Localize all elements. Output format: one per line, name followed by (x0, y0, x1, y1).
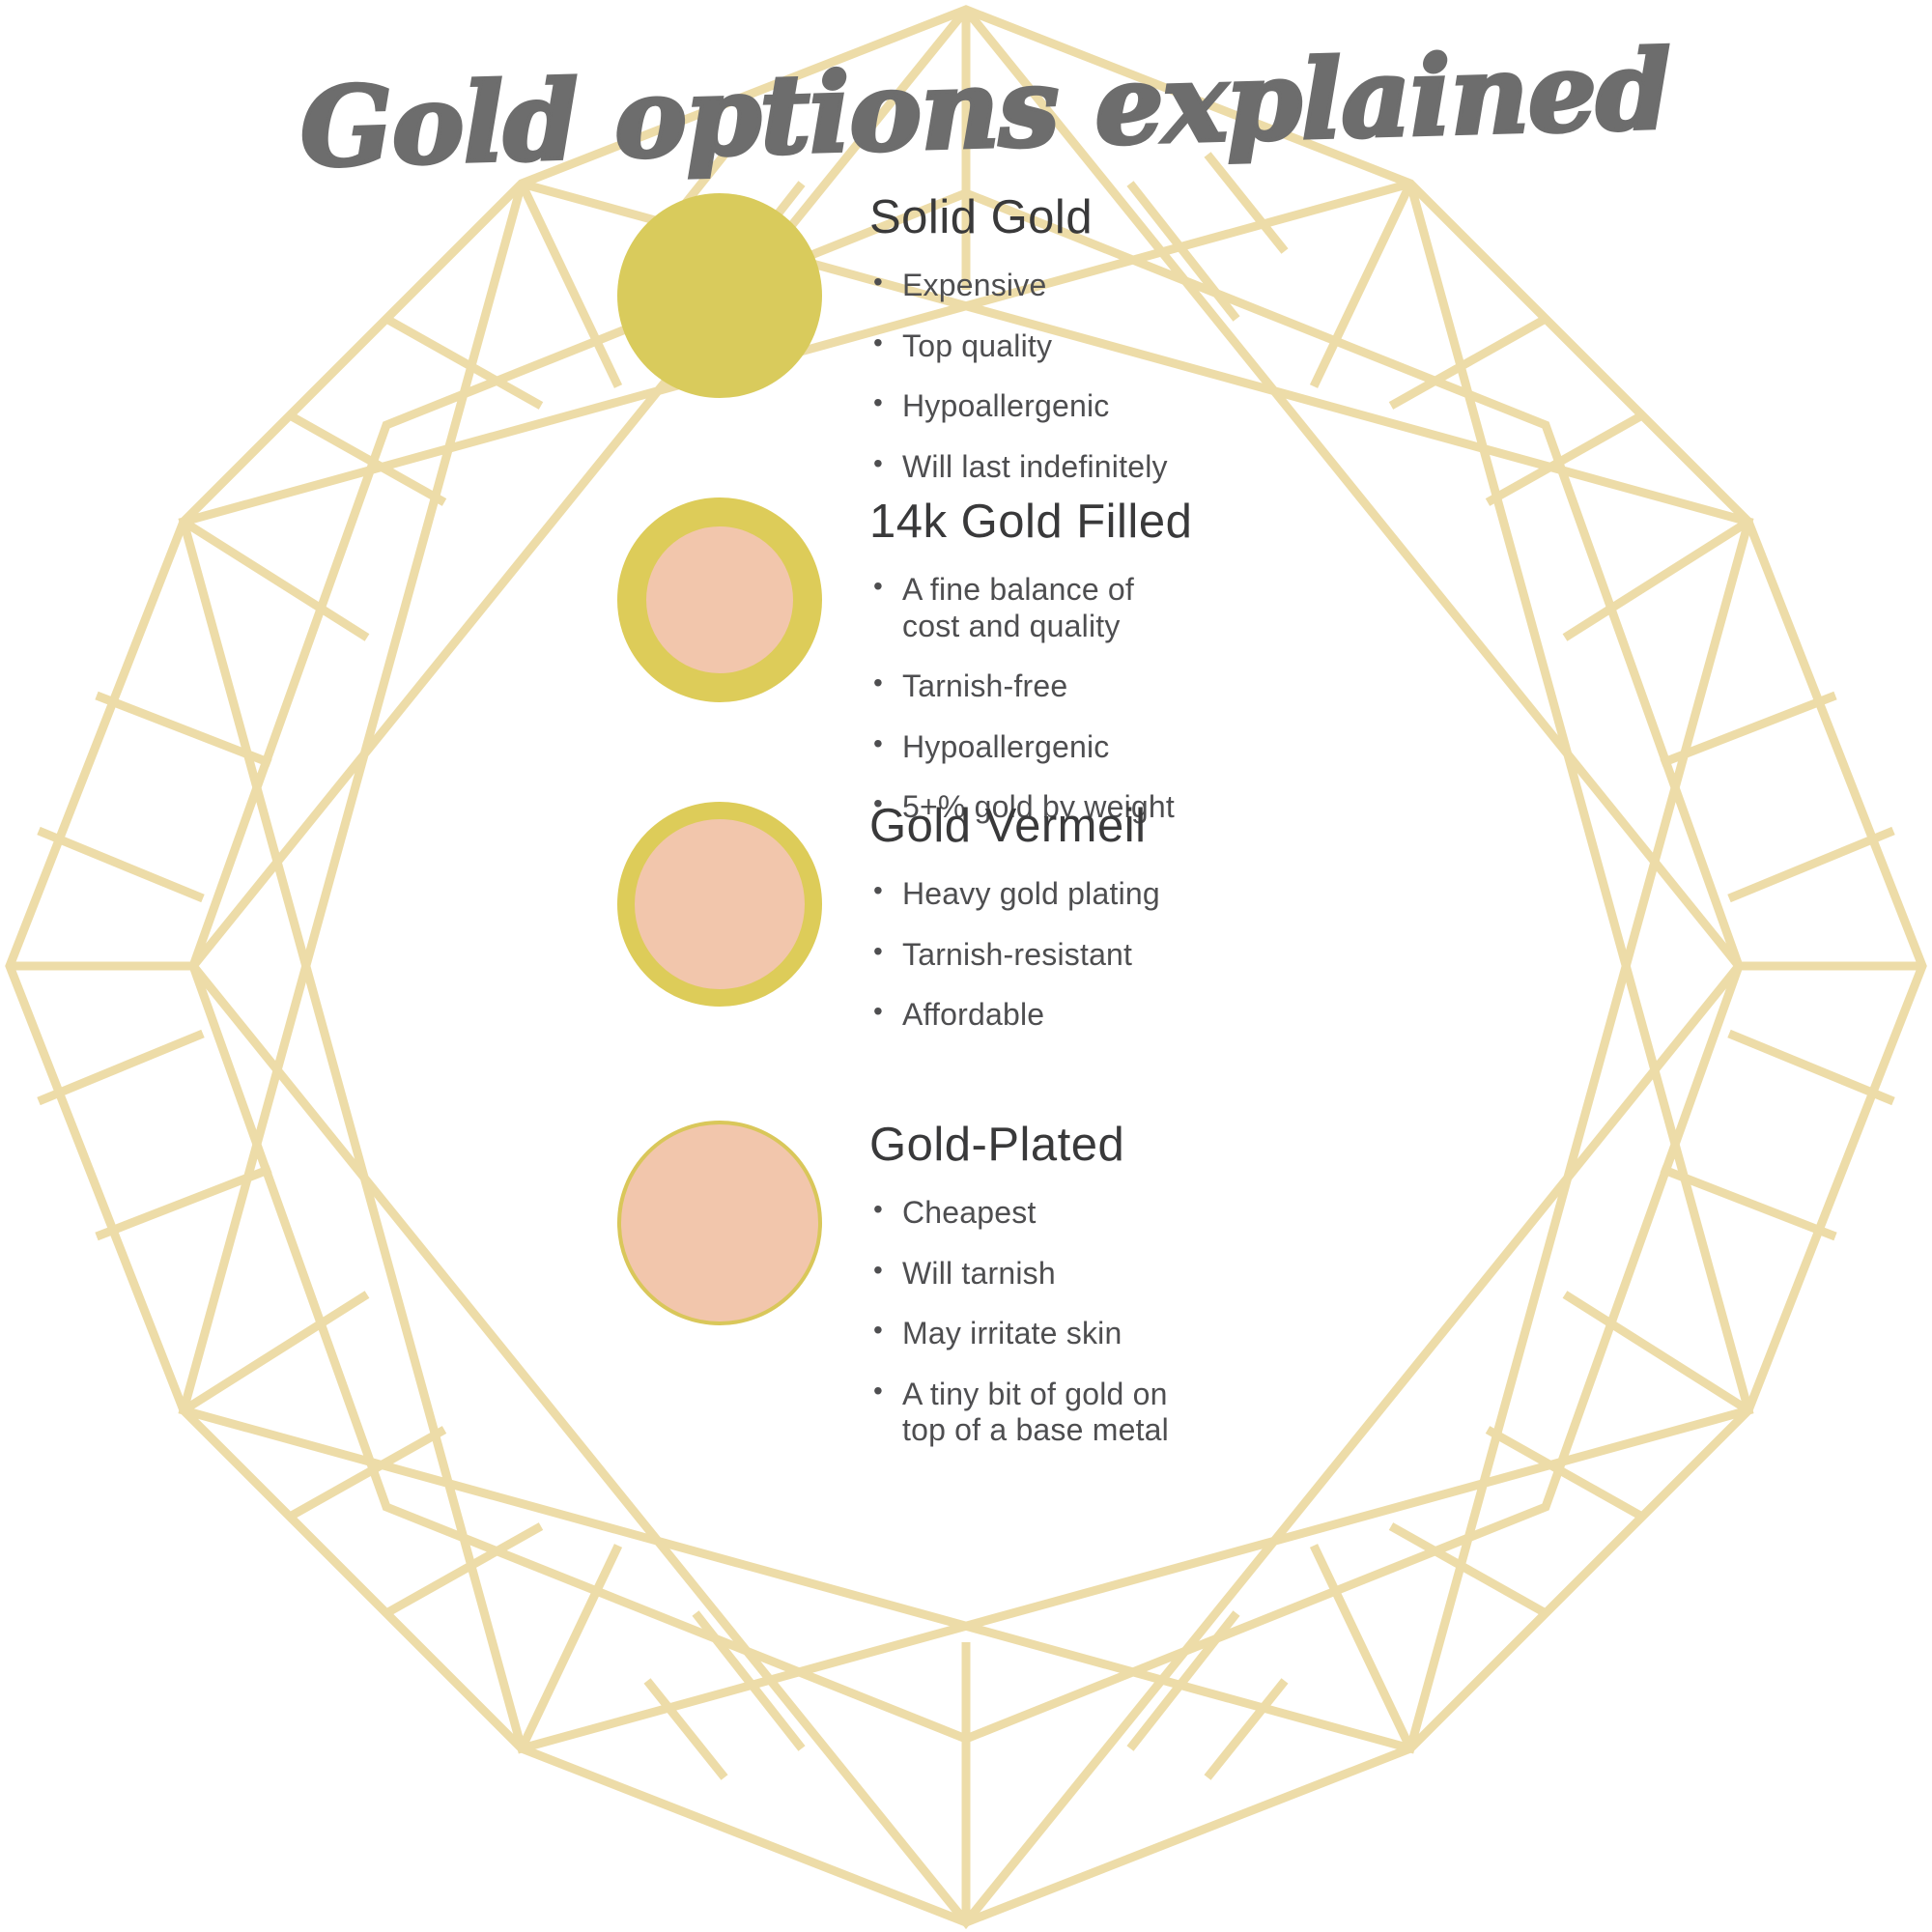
bullet-list-gold-vermeil: Heavy gold platingTarnish-resistantAffor… (869, 876, 1642, 1033)
section-14k-gold-filled: 14k Gold FilledA fine balance ofcost and… (580, 497, 1642, 850)
section-heading-gold-vermeil: Gold Vermeil (869, 802, 1642, 851)
bullet-item: Cheapest (869, 1195, 1642, 1231)
bullet-item: Will last indefinitely (869, 449, 1642, 485)
section-heading-gold-plated: Gold-Plated (869, 1121, 1642, 1170)
section-heading-14k-gold-filled: 14k Gold Filled (869, 497, 1642, 547)
bullet-item: Hypoallergenic (869, 388, 1642, 424)
text-column-gold-vermeil: Gold VermeilHeavy gold platingTarnish-re… (860, 802, 1642, 1058)
bullet-item: Hypoallergenic (869, 729, 1642, 765)
bullet-list-14k-gold-filled: A fine balance ofcost and qualityTarnish… (869, 572, 1642, 825)
section-heading-solid-gold: Solid Gold (869, 193, 1642, 242)
bullet-item: A fine balance ofcost and quality (869, 572, 1642, 644)
section-solid-gold: Solid GoldExpensiveTop qualityHypoallerg… (580, 193, 1642, 509)
swatch-wrap-gold-vermeil (580, 802, 860, 1007)
section-gold-vermeil: Gold VermeilHeavy gold platingTarnish-re… (580, 802, 1642, 1058)
bullet-item: A tiny bit of gold ontop of a base metal (869, 1377, 1642, 1449)
bullet-item: May irritate skin (869, 1316, 1642, 1351)
text-column-gold-plated: Gold-PlatedCheapestWill tarnishMay irrit… (860, 1121, 1642, 1473)
bullet-item: Tarnish-free (869, 668, 1642, 704)
text-column-14k-gold-filled: 14k Gold FilledA fine balance ofcost and… (860, 497, 1642, 850)
bullet-item: Expensive (869, 268, 1642, 303)
bullet-item: Top quality (869, 328, 1642, 364)
swatch-wrap-14k-gold-filled (580, 497, 860, 702)
bullet-item: Tarnish-resistant (869, 937, 1642, 973)
gold-sample-circle-solid-gold (617, 193, 822, 398)
gold-sample-circle-gold-vermeil (617, 802, 822, 1007)
bullet-list-gold-plated: CheapestWill tarnishMay irritate skinA t… (869, 1195, 1642, 1448)
gold-sample-circle-gold-plated (617, 1121, 822, 1325)
swatch-wrap-gold-plated (580, 1121, 860, 1325)
section-gold-plated: Gold-PlatedCheapestWill tarnishMay irrit… (580, 1121, 1642, 1473)
swatch-wrap-solid-gold (580, 193, 860, 398)
bullet-item: Heavy gold plating (869, 876, 1642, 912)
sections-container: Solid GoldExpensiveTop qualityHypoallerg… (0, 0, 1932, 1932)
text-column-solid-gold: Solid GoldExpensiveTop qualityHypoallerg… (860, 193, 1642, 509)
bullet-item: Affordable (869, 997, 1642, 1033)
infographic-canvas: Gold options explained Solid GoldExpensi… (0, 0, 1932, 1932)
bullet-item: Will tarnish (869, 1256, 1642, 1292)
bullet-list-solid-gold: ExpensiveTop qualityHypoallergenicWill l… (869, 268, 1642, 485)
gold-sample-circle-14k-gold-filled (617, 497, 822, 702)
